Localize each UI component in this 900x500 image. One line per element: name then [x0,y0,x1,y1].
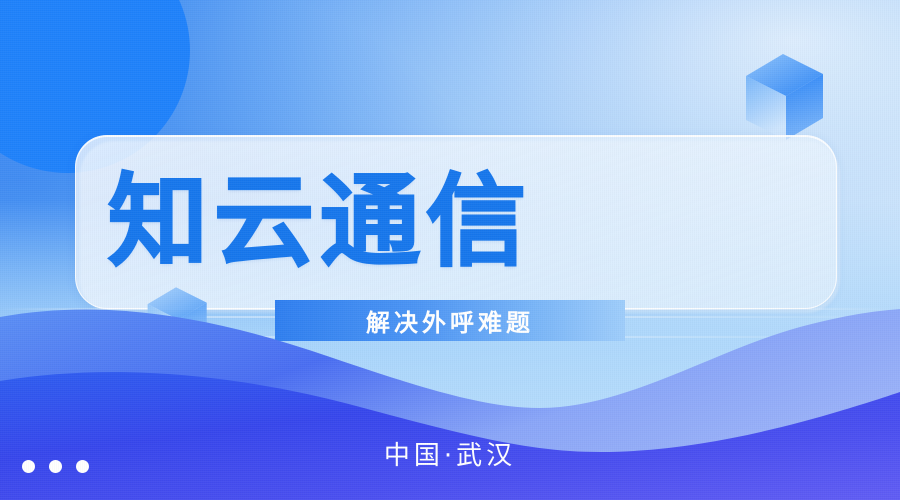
cube-3d-icon [740,52,826,144]
page-title: 知云通信 [108,152,668,292]
promo-poster: 知云通信 [0,0,900,500]
location-label: 中国·武汉 [0,435,900,472]
